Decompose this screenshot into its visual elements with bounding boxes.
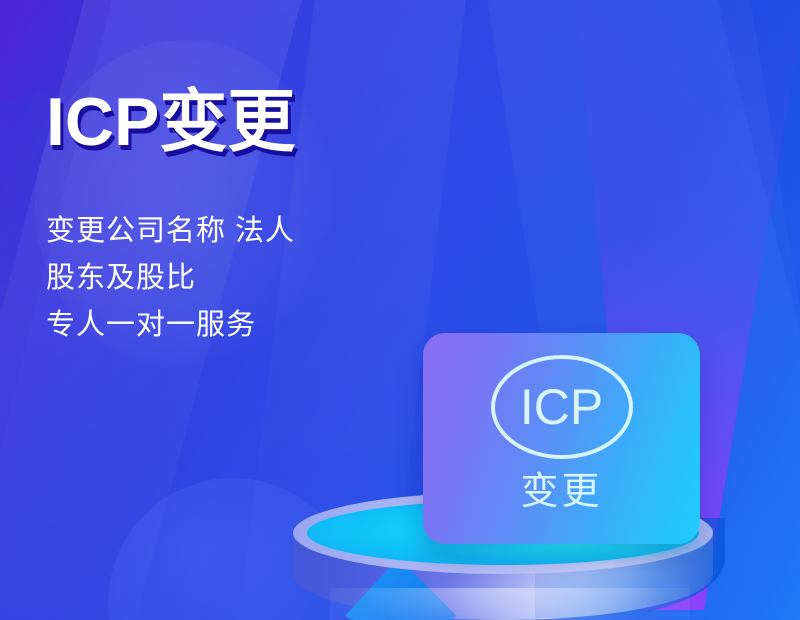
- page-title: ICP变更: [46, 88, 295, 156]
- icp-oval-badge-icon: ICP: [491, 355, 633, 459]
- subtitle-line-3: 专人一对一服务: [46, 306, 295, 344]
- icp-card-content: ICP 变更: [423, 333, 700, 544]
- icp-card[interactable]: ICP 变更: [423, 333, 700, 544]
- floor-haze: [330, 588, 690, 620]
- subtitle-block: 变更公司名称 法人 股东及股比 专人一对一服务: [46, 212, 295, 353]
- icp-change-banner: ICP变更 变更公司名称 法人 股东及股比 专人一对一服务 ICP 变更: [0, 0, 800, 620]
- icp-card-label: 变更: [520, 473, 602, 511]
- icp-badge-text: ICP: [520, 382, 603, 432]
- subtitle-line-2: 股东及股比: [46, 259, 295, 297]
- subtitle-line-1: 变更公司名称 法人: [46, 212, 295, 250]
